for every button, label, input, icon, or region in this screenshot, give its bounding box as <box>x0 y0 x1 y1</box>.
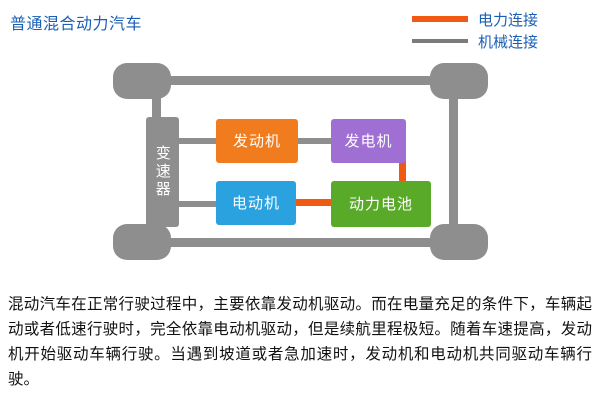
legend-label-electric: 电力连接 <box>478 9 538 30</box>
block-transmission[interactable]: 变速器 <box>146 117 179 227</box>
description-paragraph: 混动汽车在正常行驶过程中，主要依靠发动机驱动。而在电量充足的条件下，车辆起动或者… <box>8 292 592 392</box>
legend-swatch-electric-icon <box>412 16 468 22</box>
connector-transmission-engine <box>178 138 218 144</box>
connector-engine-generator <box>297 138 332 144</box>
axle-rear <box>140 238 458 247</box>
vehicle-chassis-diagram: 变速器 发动机 发电机 电动机 动力电池 <box>0 46 600 286</box>
block-motor[interactable]: 电动机 <box>216 181 296 225</box>
block-generator[interactable]: 发电机 <box>331 119 406 163</box>
diagram-page: 普通混合动力汽车 电力连接 机械连接 变速器 发动机 发电机 <box>0 0 600 400</box>
legend-item-electric: 电力连接 <box>412 8 592 30</box>
block-engine[interactable]: 发动机 <box>216 119 298 163</box>
legend-swatch-mechanical-icon <box>412 39 468 43</box>
frame-rail-right <box>449 76 458 247</box>
connector-transmission-motor <box>178 201 218 207</box>
connector-motor-battery <box>292 199 332 206</box>
page-title: 普通混合动力汽车 <box>10 10 142 34</box>
axle-front <box>140 76 458 85</box>
block-battery[interactable]: 动力电池 <box>331 181 431 227</box>
